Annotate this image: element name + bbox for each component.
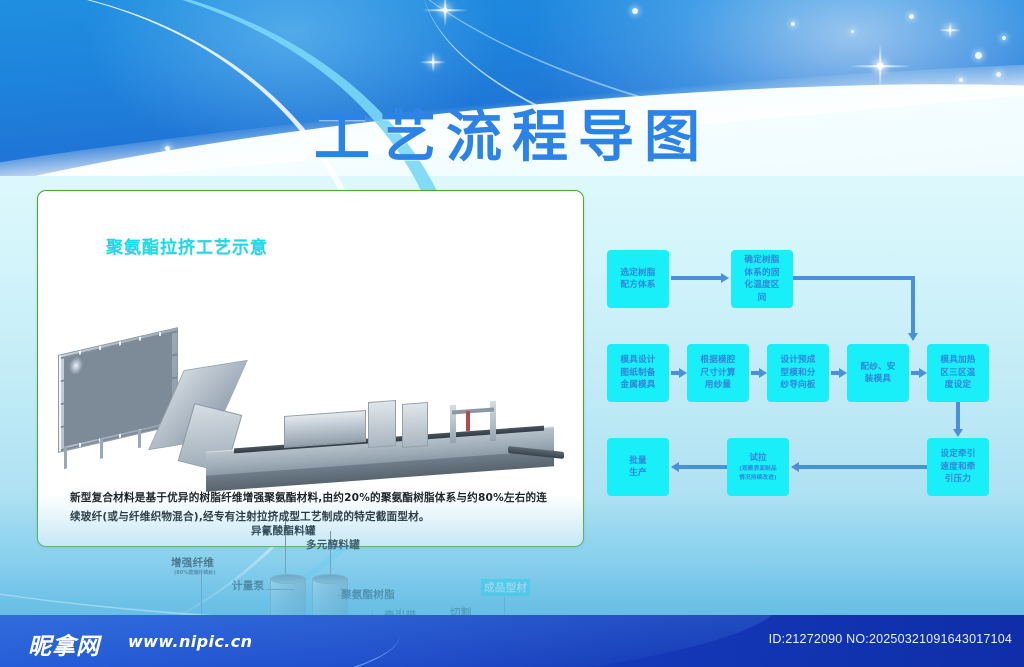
arrow-head-n1-n2 [721,273,729,283]
flow-node-curing-temperature-range[interactable]: 确定树脂 体系的固 化温度区 间 [731,250,793,308]
puller-unit-1 [368,400,396,448]
flow-node-mass-production[interactable]: 批量 生产 [607,438,669,496]
arrow-head-n9-n10 [671,462,679,472]
flow-node-label: 批量 生产 [629,455,647,480]
flow-node-label: 试拉 [749,452,767,465]
flow-node-trial-pull[interactable]: 试拉 (观察表面制品 情况持续改进) [727,438,789,496]
pultrusion-illustration: 增强纤维 (80%玻璃纤维纱) 计量泵 异氰酸酯料罐 多元醇料罐 聚氨酯树脂 牵… [38,253,583,483]
flow-node-three-zone-temperature[interactable]: 模具加热 区三区温 度设定 [927,344,989,402]
puller-unit-2 [402,402,428,448]
arrow-n1-n2 [671,276,721,280]
image-id-tag: ID:21272090 NO:20250321091643017104 [769,632,1012,646]
cutter-bar [452,407,494,414]
arrow-head-n2-n7 [908,333,918,341]
arrow-head-n8-n9 [791,462,799,472]
flow-node-label: 模具设计 图纸制备 金属模具 [620,354,655,392]
flow-node-label: 选定树脂 配方体系 [620,267,655,292]
flow-node-yarn-setup-install-mold[interactable]: 配纱、安 装模具 [847,344,909,402]
arrow-n9-n10 [679,465,727,469]
bokeh-dot [909,14,914,19]
bokeh-dot [632,8,638,14]
flow-node-pull-speed-pressure[interactable]: 设定牵引 速度和牵 引压力 [927,438,989,496]
illustration-panel: 聚氨酯拉挤工艺示意 [37,190,584,547]
flow-node-sublabel: (观察表面制品 情况持续改进) [739,465,777,482]
bokeh-dot [975,52,982,59]
flow-node-mold-design-drawing[interactable]: 模具设计 图纸制备 金属模具 [607,344,669,402]
flow-node-preform-and-yarn-guide[interactable]: 设计预成 型模和分 纱导向板 [767,344,829,402]
flow-node-label: 模具加热 区三区温 度设定 [940,354,975,392]
arrow-head-n5-n6 [839,368,847,378]
arrow-n7-n8 [956,402,960,430]
flow-node-label: 配纱、安 装模具 [860,361,895,386]
cutter-blade [466,411,470,431]
brand-logo: 昵拿网 [28,627,100,661]
bokeh-dot [1002,36,1006,40]
bokeh-dot [791,22,795,26]
poster-canvas: 工艺流程导图 聚氨酯拉挤工艺示意 [0,0,1024,667]
footer-bar: 昵拿网 www.nipic.cn ID:21272090 NO:20250321… [0,615,1024,667]
flow-node-label: 设定牵引 速度和牵 引压力 [940,448,975,486]
arrow-n2-down [911,276,915,334]
arrow-n2-right [793,276,915,280]
flow-node-label: 确定树脂 体系的固 化温度区 间 [744,254,779,304]
flow-node-select-resin-formula[interactable]: 选定树脂 配方体系 [607,250,669,308]
flow-node-yarn-quantity-calc[interactable]: 根据模腔 尺寸计算 用纱量 [687,344,749,402]
arrow-head-n7-n8 [953,429,963,437]
flow-node-label: 设计预成 型模和分 纱导向板 [780,354,815,392]
arrow-head-n3-n4 [679,368,687,378]
arrow-head-n4-n5 [759,368,767,378]
flow-node-label: 根据模腔 尺寸计算 用纱量 [700,354,735,392]
arrow-head-n6-n7 [919,368,927,378]
page-title: 工艺流程导图 [0,92,1024,173]
mold-block [284,410,366,448]
bokeh-dot [851,30,854,33]
brand-url[interactable]: www.nipic.cn [128,632,252,651]
arrow-n8-n9 [799,465,927,469]
process-flowchart: 选定树脂 配方体系 确定树脂 体系的固 化温度区 间 模具设计 图纸制备 金属模… [595,240,1024,510]
